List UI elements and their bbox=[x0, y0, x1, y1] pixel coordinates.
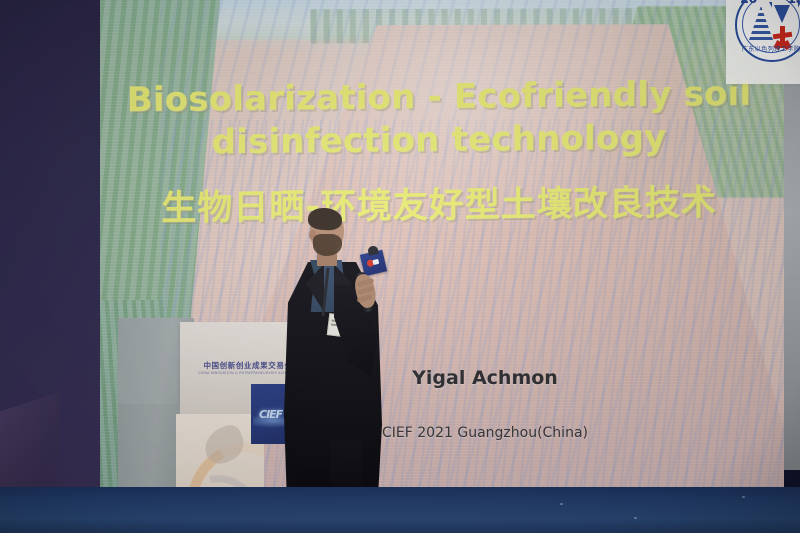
guangdong-technion-emblem: GUANGDONG 20 15 广东以色列理工学院 bbox=[733, 0, 800, 74]
speaker-figure bbox=[276, 210, 406, 533]
speaker-hair bbox=[307, 207, 342, 231]
broadcaster-logo-icon bbox=[366, 257, 380, 269]
speaker-beard bbox=[313, 234, 342, 256]
emblem-arc-bottom-text: 广东以色列理工学院 bbox=[737, 44, 800, 53]
slide-title-line2: disinfection technology bbox=[104, 115, 774, 165]
slide-title-chinese: 生物日晒-环境友好型土壤改良技术 bbox=[104, 182, 774, 229]
slide-title-line1: Biosolarization - Ecofriendly soil bbox=[127, 74, 751, 121]
stage-floor-speck bbox=[560, 503, 563, 505]
slide-title: Biosolarization - Ecofriendly soil disin… bbox=[104, 72, 774, 165]
stage-floor-speck bbox=[634, 517, 637, 519]
emblem-year-left: 20 bbox=[740, 0, 757, 7]
stage-floor-speck bbox=[742, 496, 745, 498]
presentation-photo-scene: Biosolarization - Ecofriendly soil disin… bbox=[0, 0, 800, 533]
stage-floor bbox=[0, 487, 800, 533]
